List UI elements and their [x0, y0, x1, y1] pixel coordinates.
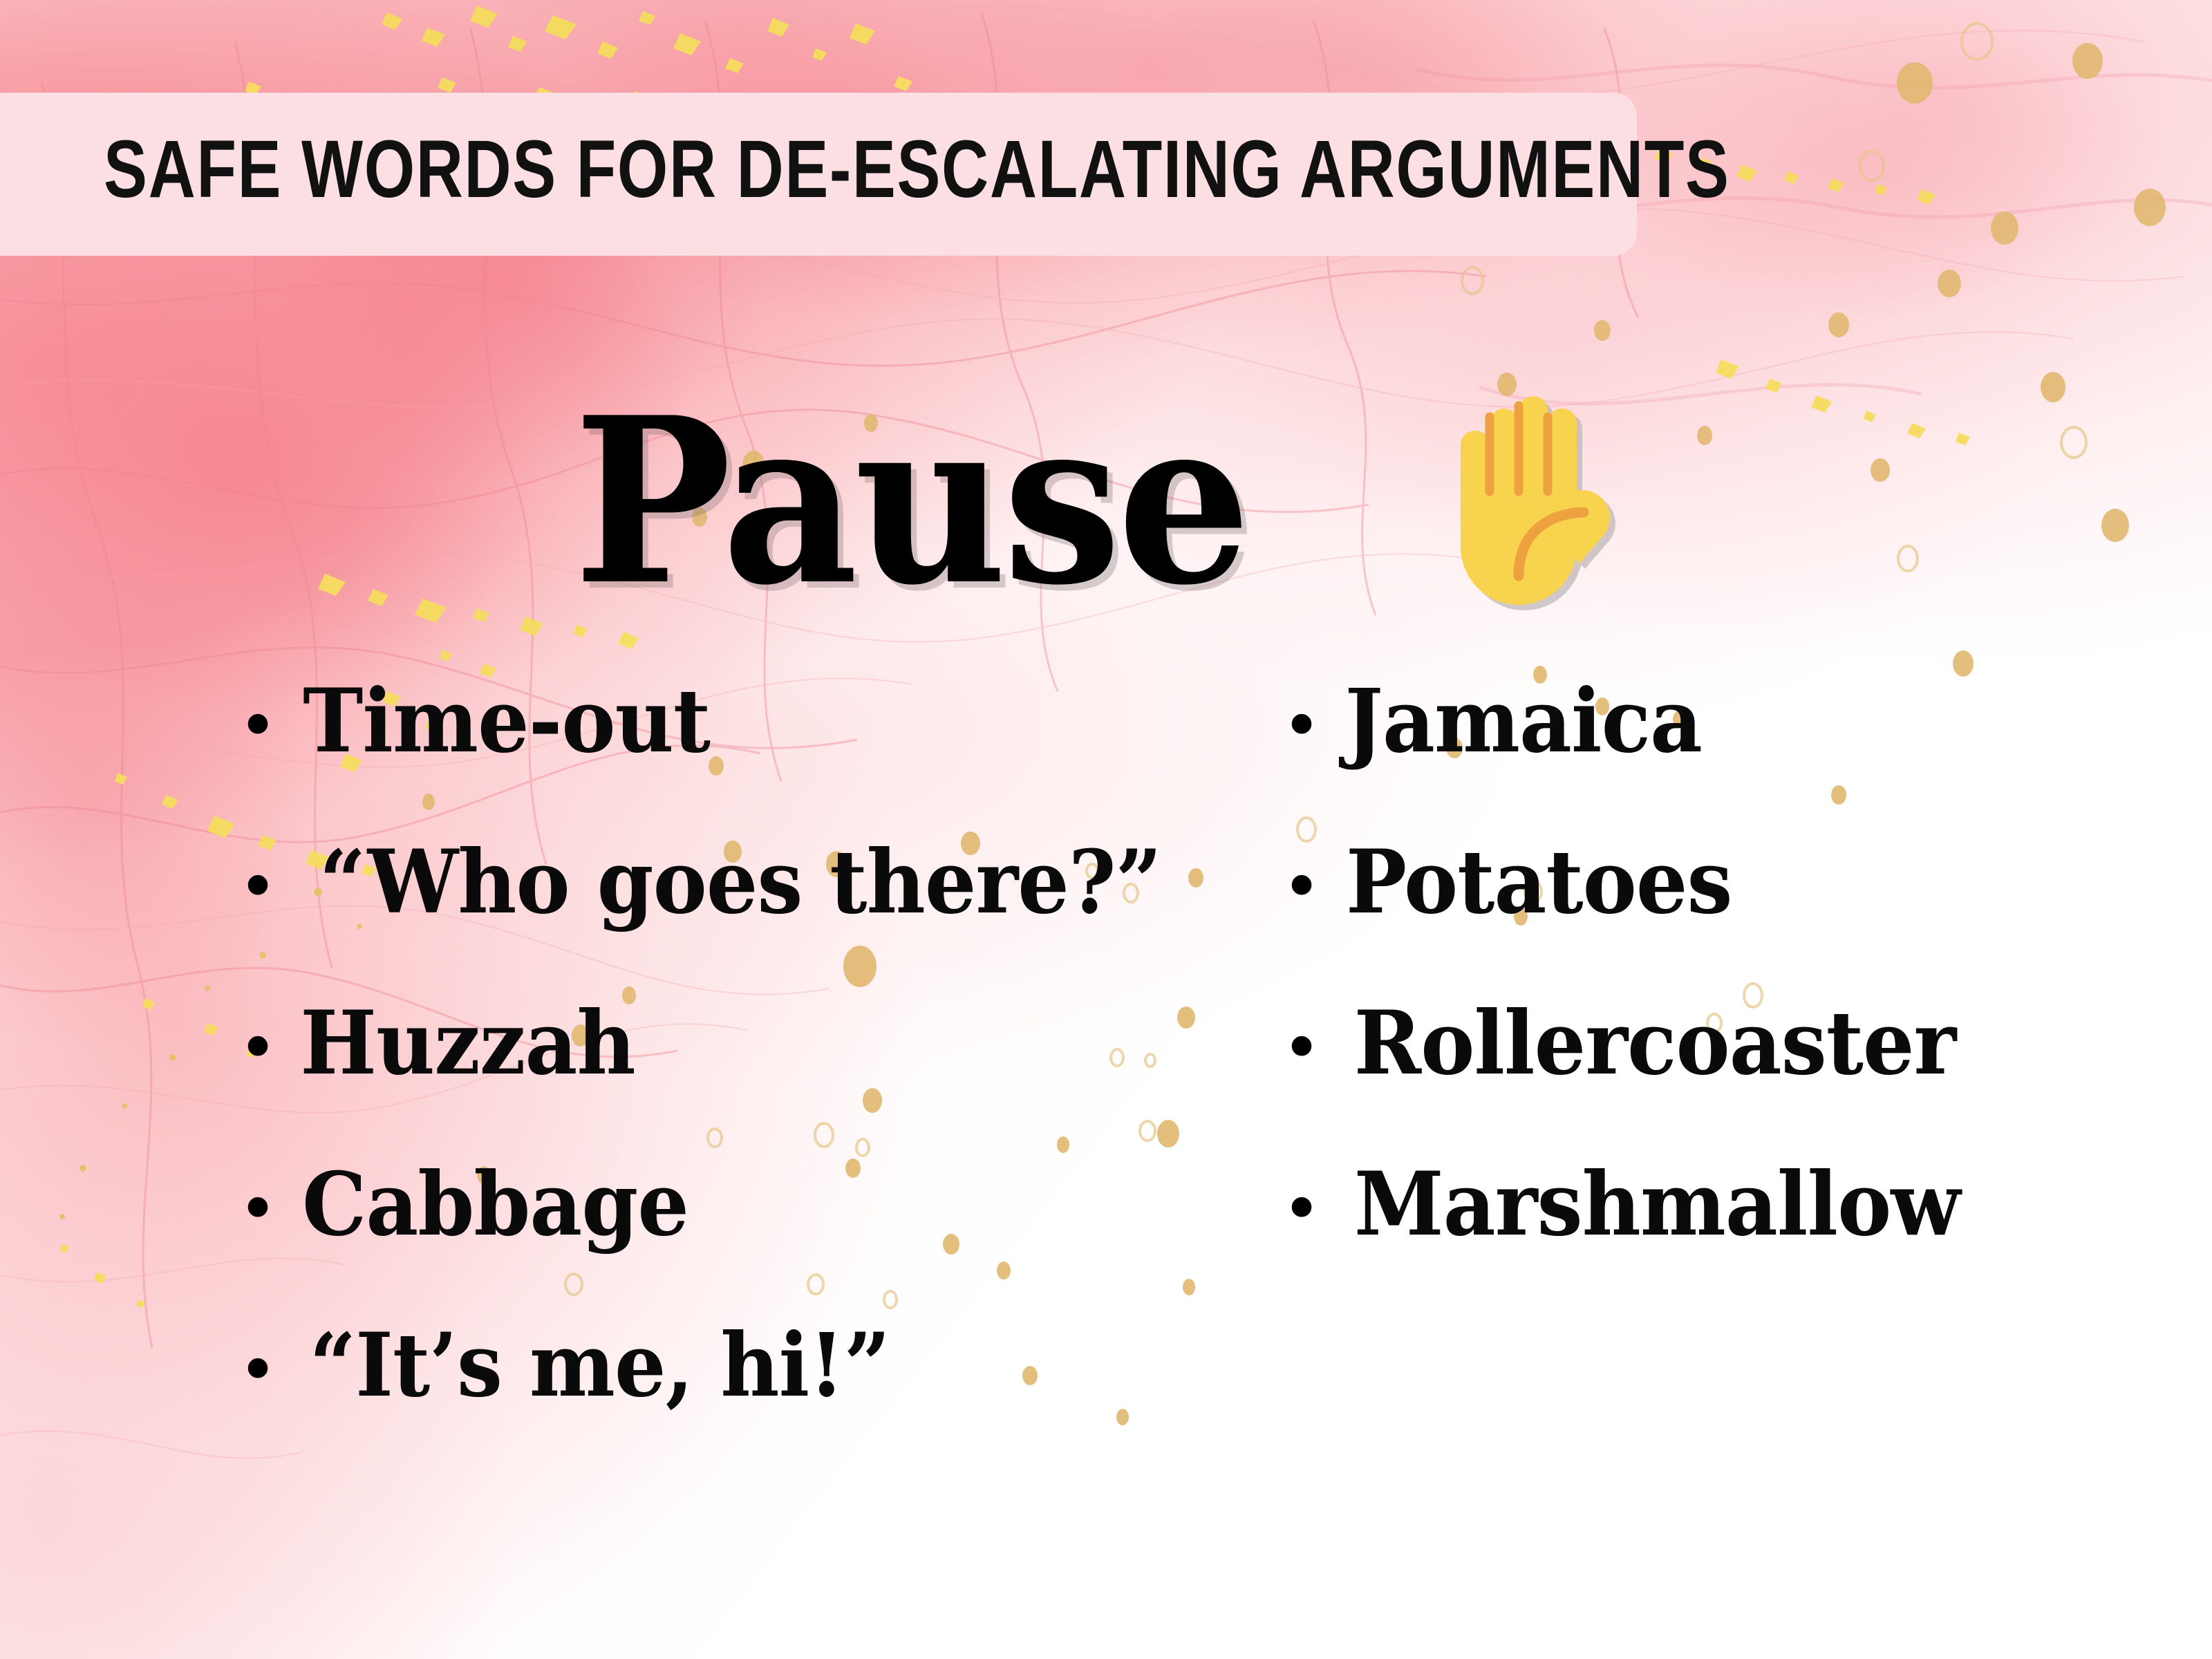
bullet-icon: •	[243, 843, 272, 926]
title-row: Pause	[574, 387, 1306, 615]
list-item-label: Huzzah	[300, 1000, 635, 1087]
raised-hand-icon	[1430, 379, 1630, 628]
list-item: • Cabbage	[243, 1161, 1193, 1322]
page-title: SAFE WORDS FOR DE-ESCALATING ARGUMENTS	[104, 129, 1730, 210]
list-item-label: “It’s me, hi!”	[310, 1322, 890, 1409]
bullet-icon: •	[1287, 1165, 1316, 1248]
bullet-icon: •	[1287, 843, 1316, 926]
list-item-label: “Who goes there?”	[319, 838, 1161, 926]
bullet-icon: •	[243, 1327, 272, 1409]
list-item: • “It’s me, hi!”	[243, 1322, 1193, 1483]
list-item: • Huzzah	[243, 1000, 1193, 1161]
list-item: • Rollercoaster	[1287, 1000, 1983, 1161]
list-item-label: Potatoes	[1346, 838, 1732, 926]
headline-word: Pause	[574, 387, 1247, 615]
list-item-label: Rollercoaster	[1354, 1000, 1956, 1087]
safe-words-list-right: • Jamaica • Potatoes • Rollercoaster • M…	[1287, 677, 1983, 1322]
bullet-icon: •	[243, 1165, 272, 1248]
list-item-label: Marshmallow	[1354, 1161, 1960, 1248]
bullet-icon: •	[1287, 1004, 1316, 1087]
slide-canvas: SAFE WORDS FOR DE-ESCALATING ARGUMENTS P…	[0, 0, 2212, 1659]
list-item-label: Time-out	[303, 677, 710, 765]
bullet-icon: •	[1287, 682, 1316, 765]
list-item: • Jamaica	[1287, 677, 1983, 838]
bullet-icon: •	[243, 682, 272, 765]
list-item: • Marshmallow	[1287, 1161, 1983, 1322]
list-item: • Potatoes	[1287, 838, 1983, 1000]
list-item-label: Cabbage	[302, 1161, 688, 1248]
safe-words-list-left: • Time-out • “Who goes there?” • Huzzah …	[243, 677, 1193, 1483]
list-item-label: Jamaica	[1344, 677, 1702, 765]
list-item: • Time-out	[243, 677, 1193, 838]
list-item: • “Who goes there?”	[243, 838, 1193, 1000]
bullet-icon: •	[243, 1004, 272, 1087]
